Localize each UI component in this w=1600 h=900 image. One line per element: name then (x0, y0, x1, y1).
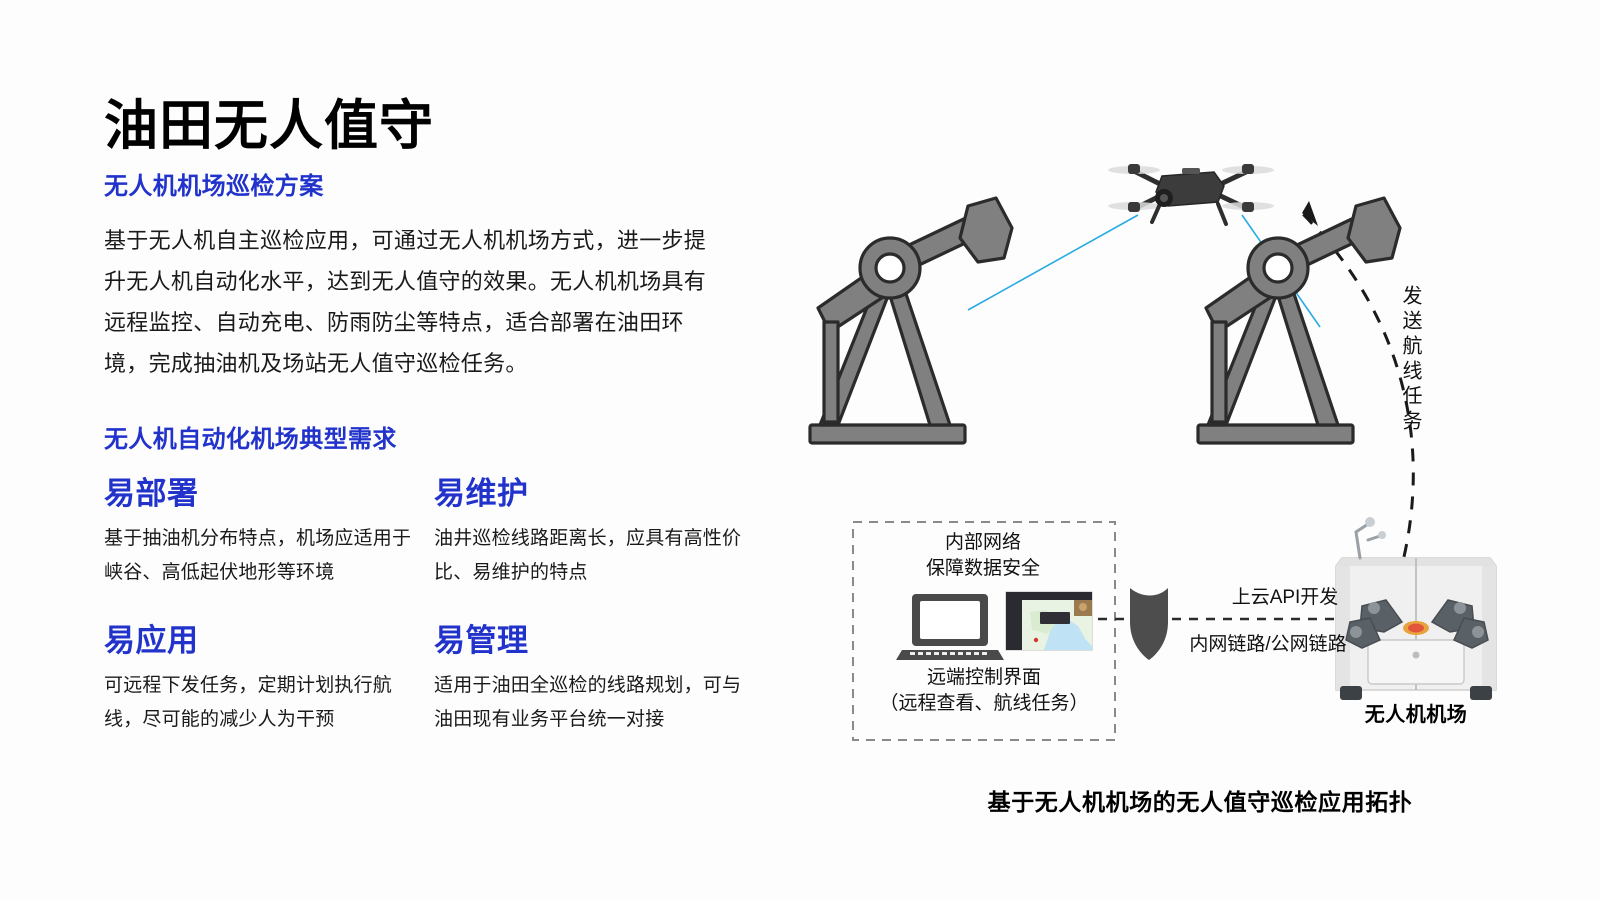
dock-label: 无人机机场 (1316, 698, 1516, 727)
feature-card-maintain: 易维护 油井巡检线路距离长，应具有高性价比、易维护的特点 (434, 476, 744, 589)
feature-body: 适用于油田全巡检的线路规划，可与油田现有业务平台统一对接 (434, 669, 744, 737)
feature-heading: 易管理 (434, 623, 744, 659)
feature-heading: 易部署 (104, 476, 414, 512)
diagram-caption: 基于无人机机场的无人值守巡检应用拓扑 (880, 783, 1520, 817)
feature-card-manage: 易管理 适用于油田全巡检的线路规划，可与油田现有业务平台统一对接 (434, 623, 744, 736)
internal-network-label: 内部网络 保障数据安全 (883, 530, 1083, 581)
map-monitor-icon (1006, 592, 1092, 650)
network-link-label: 内网链路/公网链路 (1148, 632, 1388, 658)
page-title: 油田无人值守 (104, 96, 784, 156)
left-content-column: 油田无人值守 无人机机场巡检方案 基于无人机自主巡检应用，可通过无人机机场方式，… (104, 96, 784, 737)
pumpjack-left-icon (810, 198, 1012, 443)
pumpjack-right-icon (1198, 198, 1400, 443)
section-title-requirements: 无人机自动化机场典型需求 (104, 419, 784, 454)
drone-icon (1108, 164, 1274, 224)
send-route-label: 发送航线任务 (1400, 285, 1420, 435)
feature-body: 基于抽油机分布特点，机场应适用于峡谷、高低起伏地形等环境 (104, 522, 414, 590)
topology-diagram: 发送航线任务 内部网络 保障数据安全 远端控制界面 （远程查看、航线任务） 上云… (790, 0, 1600, 900)
laptop-icon (896, 594, 1004, 660)
intro-paragraph: 基于无人机自主巡检应用，可通过无人机机场方式，进一步提升无人机自动化水平，达到无… (104, 221, 716, 385)
feature-body: 油井巡检线路距离长，应具有高性价比、易维护的特点 (434, 522, 744, 590)
page-subtitle: 无人机机场巡检方案 (104, 166, 784, 201)
diagram-graphics (790, 0, 1600, 900)
feature-grid: 易部署 基于抽油机分布特点，机场应适用于峡谷、高低起伏地形等环境 易维护 油井巡… (104, 476, 764, 737)
feature-heading: 易维护 (434, 476, 744, 512)
cloud-api-label: 上云API开发 (1185, 585, 1385, 611)
feature-heading: 易应用 (104, 623, 414, 659)
remote-console-label: 远端控制界面 （远程查看、航线任务） (853, 665, 1115, 716)
feature-card-deploy: 易部署 基于抽油机分布特点，机场应适用于峡谷、高低起伏地形等环境 (104, 476, 414, 589)
slide-canvas: 油田无人值守 无人机机场巡检方案 基于无人机自主巡检应用，可通过无人机机场方式，… (0, 0, 1600, 900)
feature-body: 可远程下发任务，定期计划执行航线，尽可能的减少人为干预 (104, 669, 414, 737)
feature-card-apply: 易应用 可远程下发任务，定期计划执行航线，尽可能的减少人为干预 (104, 623, 414, 736)
